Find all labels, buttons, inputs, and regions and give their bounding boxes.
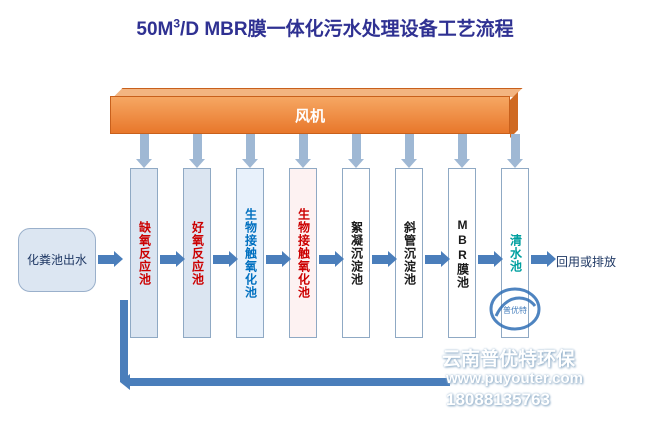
air-drop-1 (140, 134, 149, 160)
tank-label: 缺氧反应池 (138, 221, 151, 286)
tank-1: 缺氧反应池 (130, 168, 158, 338)
flow-arrow-7 (478, 255, 494, 264)
tank-label: MBR膜池 (456, 218, 469, 289)
flow-arrow-6 (425, 255, 441, 264)
tank-5: 絮凝沉淀池 (342, 168, 370, 338)
air-drop-6 (405, 134, 414, 160)
tank-label: 絮凝沉淀池 (350, 221, 363, 286)
diagram-canvas: 50M3/D MBR膜一体化污水处理设备工艺流程 风机 化粪池出水 缺氧反应池好… (0, 0, 650, 421)
title-suffix: /D MBR膜一体化污水处理设备工艺流程 (180, 19, 514, 40)
blower-label: 风机 (295, 105, 325, 126)
title-prefix: 50M (136, 19, 173, 40)
tank-label: 生物接触氧化池 (297, 208, 310, 299)
flow-arrow-inlet (98, 255, 114, 264)
inlet-label: 化粪池出水 (27, 252, 87, 268)
tank-7: MBR膜池 (448, 168, 476, 338)
watermark-company: 云南普优特环保 (442, 344, 575, 371)
air-drop-2 (193, 134, 202, 160)
watermark-url: www.puyouter.com (446, 370, 583, 387)
company-logo-icon: 普优特 (488, 282, 542, 336)
tank-6: 斜管沉淀池 (395, 168, 423, 338)
air-drop-8 (511, 134, 520, 160)
tank-label: 斜管沉淀池 (403, 221, 416, 286)
outflow-label: 回用或排放 (556, 253, 616, 270)
svg-text:普优特: 普优特 (503, 305, 527, 315)
page-title: 50M3/D MBR膜一体化污水处理设备工艺流程 (0, 14, 650, 41)
tank-label: 好氧反应池 (191, 221, 204, 286)
flow-arrow-1 (160, 255, 176, 264)
air-drop-3 (246, 134, 255, 160)
air-drop-4 (299, 134, 308, 160)
air-drop-5 (352, 134, 361, 160)
tank-4: 生物接触氧化池 (289, 168, 317, 338)
blower-bar: 风机 (110, 96, 510, 134)
return-flow-riser (120, 300, 128, 382)
flow-arrow-3 (266, 255, 282, 264)
inlet-box: 化粪池出水 (18, 228, 96, 292)
tank-2: 好氧反应池 (183, 168, 211, 338)
air-drop-7 (458, 134, 467, 160)
tank-label: 生物接触氧化池 (244, 208, 257, 299)
flow-arrow-4 (319, 255, 335, 264)
flow-arrow-5 (372, 255, 388, 264)
blower-bar-side-face (510, 92, 518, 138)
tank-3: 生物接触氧化池 (236, 168, 264, 338)
watermark-phone: 18088135763 (446, 390, 550, 410)
return-flow-line (130, 378, 450, 386)
flow-arrow-2 (213, 255, 229, 264)
tank-label: 清水池 (509, 234, 522, 273)
flow-arrow-outlet (531, 255, 547, 264)
